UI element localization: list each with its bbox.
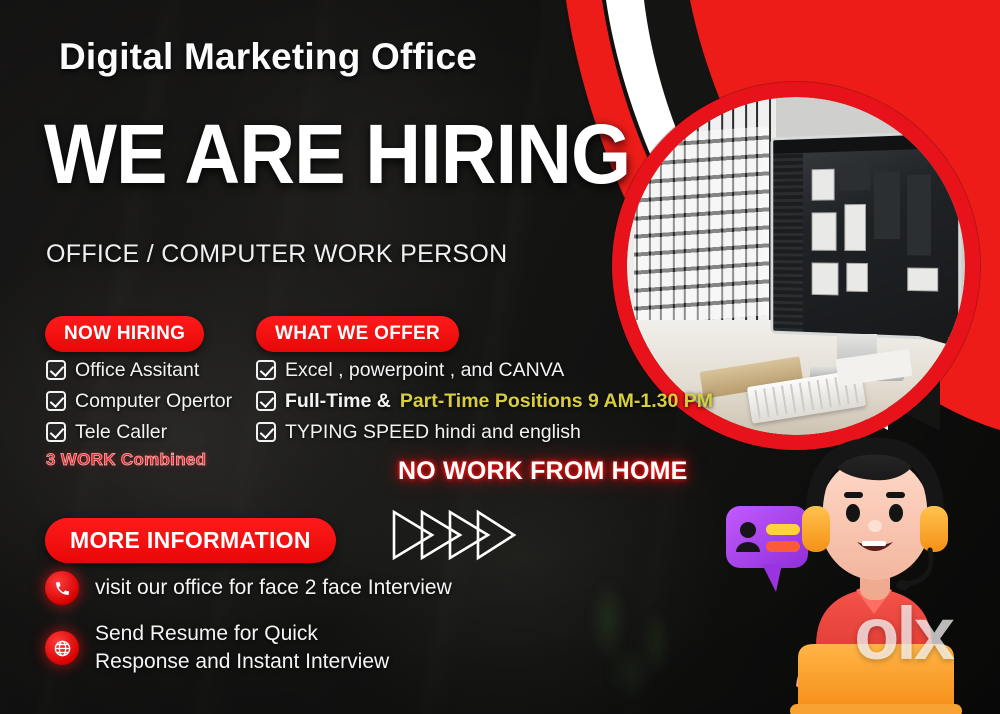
monitor-panel — [811, 169, 834, 200]
offer-label: TYPING SPEED hindi and english — [285, 421, 581, 444]
badge-now-hiring[interactable]: NOW HIRING — [45, 316, 204, 352]
monitor-panel — [844, 204, 866, 251]
list-item: Excel , powerpoint , and CANVA — [256, 356, 713, 384]
monitor-panel — [840, 163, 869, 191]
laptop-icon — [798, 644, 954, 714]
monitor-panel — [873, 172, 899, 240]
agent-nose — [868, 520, 882, 532]
checkbox-checked-icon — [46, 360, 66, 380]
arrow-triangle — [422, 512, 460, 558]
headset-earcup-icon — [920, 506, 948, 552]
globe-glyph — [53, 639, 72, 658]
combined-work-note: 3 WORK Combined — [46, 450, 206, 470]
monitor-panel — [907, 175, 930, 256]
roles-list: Office Assitant Computer Opertor Tele Ca… — [46, 356, 232, 449]
contact-line-visit[interactable]: visit our office for face 2 face Intervi… — [45, 571, 452, 605]
agent-eye — [889, 504, 903, 522]
headset-mic-icon — [896, 580, 910, 590]
list-item: Tele Caller — [46, 418, 232, 446]
list-item: Computer Opertor — [46, 387, 232, 415]
agent-teeth — [862, 541, 886, 546]
arrow-triangle — [394, 512, 432, 558]
contact-text: visit our office for face 2 face Intervi… — [95, 574, 452, 602]
hiring-poster: Digital Marketing Office WE ARE HIRING O… — [0, 0, 1000, 714]
offers-list: Excel , powerpoint , and CANVA Full-Time… — [256, 356, 713, 449]
monitor-panel — [907, 268, 938, 293]
arrow-triangle — [450, 512, 488, 558]
list-item: TYPING SPEED hindi and english — [256, 418, 713, 446]
page-title: Digital Marketing Office — [59, 36, 477, 78]
arrow-group — [388, 506, 518, 569]
offer-label-highlight: Part-Time Positions 9 AM-1.30 PM — [400, 390, 713, 413]
contact-text-line-a: Send Resume for Quick — [95, 622, 318, 645]
agent-eye — [846, 504, 860, 522]
list-item: Full-Time & Part-Time Positions 9 AM-1.3… — [256, 387, 713, 415]
role-label: Office Assitant — [75, 359, 199, 382]
checkbox-checked-icon — [256, 391, 276, 411]
photo-wall-posters-overlay — [634, 126, 769, 325]
laptop-base — [790, 704, 962, 714]
offer-label: Excel , powerpoint , and CANVA — [285, 359, 564, 382]
headline: WE ARE HIRING — [44, 116, 630, 193]
monitor-panel — [811, 263, 838, 296]
more-information-button[interactable]: MORE INFORMATION — [45, 518, 336, 563]
badge-what-we-offer[interactable]: WHAT WE OFFER — [256, 316, 459, 352]
support-agent-illustration — [716, 414, 1000, 714]
speech-bubble-icon — [726, 506, 808, 592]
monitor-panel — [845, 263, 867, 293]
globe-icon — [45, 631, 79, 665]
checkbox-checked-icon — [256, 360, 276, 380]
chevron-arrows-icon — [388, 506, 518, 564]
role-label: Tele Caller — [75, 421, 167, 444]
checkbox-checked-icon — [46, 422, 66, 442]
contact-text: Send Resume for Quick Response and Insta… — [95, 620, 389, 677]
checkbox-checked-icon — [256, 422, 276, 442]
headset-earcup-icon — [802, 506, 830, 552]
agent-eyebrow — [886, 492, 905, 498]
phone-glyph — [54, 580, 71, 597]
arrow-triangle — [478, 512, 514, 558]
list-item: Office Assitant — [46, 356, 232, 384]
monitor-menubar — [773, 134, 958, 154]
photo-monitor — [770, 130, 961, 340]
no-work-from-home-notice: NO WORK FROM HOME — [398, 457, 687, 486]
checkbox-checked-icon — [46, 391, 66, 411]
phone-icon — [45, 571, 79, 605]
offer-label-main: Full-Time & — [285, 390, 391, 413]
monitor-panel — [811, 212, 836, 251]
monitor-sidebar — [773, 153, 803, 332]
agent-svg — [716, 414, 1000, 714]
agent-eyebrow — [844, 492, 863, 498]
subheadline: OFFICE / COMPUTER WORK PERSON — [46, 240, 508, 269]
contact-line-resume[interactable]: Send Resume for Quick Response and Insta… — [45, 620, 389, 677]
role-label: Computer Opertor — [75, 390, 232, 413]
contact-text-line-b: Response and Instant Interview — [95, 650, 389, 673]
